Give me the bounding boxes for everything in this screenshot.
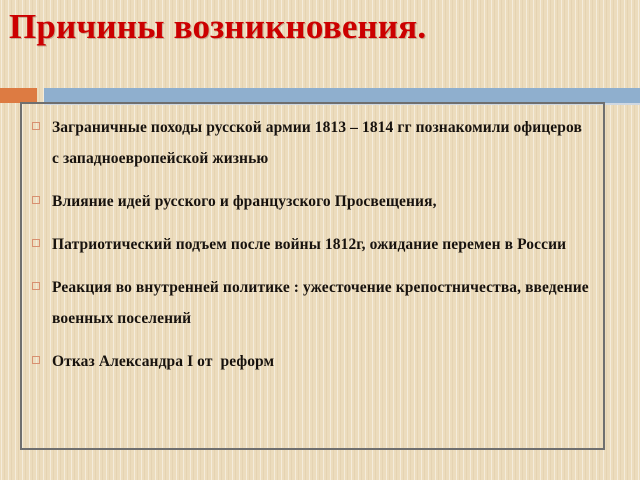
list-item-label: Влияние идей русского и французского Про…	[52, 186, 592, 217]
slide-canvas: Причины возникновения. Заграничные поход…	[0, 0, 640, 480]
hollow-square-bullet-icon	[32, 239, 40, 247]
band-blue-bar	[44, 88, 640, 103]
page-title: Причины возникновения.	[9, 1, 629, 57]
list-item-label: Отказ Александра I от реформ	[52, 346, 592, 377]
list-item[interactable]: Влияние идей русского и французского Про…	[23, 186, 603, 217]
list-item[interactable]: Заграничные походы русской армии 1813 – …	[23, 112, 603, 174]
hollow-square-bullet-icon	[32, 122, 40, 130]
list-item[interactable]: Реакция во внутренней политике : ужесточ…	[23, 272, 603, 334]
list-item[interactable]: Патриотический подъем после войны 1812г,…	[23, 229, 603, 260]
bullet-list: Заграничные походы русской армии 1813 – …	[23, 102, 603, 450]
list-item-label: Заграничные походы русской армии 1813 – …	[52, 112, 592, 174]
hollow-square-bullet-icon	[32, 196, 40, 204]
list-item-label: Реакция во внутренней политике : ужесточ…	[52, 272, 592, 334]
list-item[interactable]: Отказ Александра I от реформ	[23, 346, 603, 377]
hollow-square-bullet-icon	[32, 356, 40, 364]
hollow-square-bullet-icon	[32, 282, 40, 290]
list-item-label: Патриотический подъем после войны 1812г,…	[52, 229, 592, 260]
band-orange-block	[0, 88, 37, 103]
